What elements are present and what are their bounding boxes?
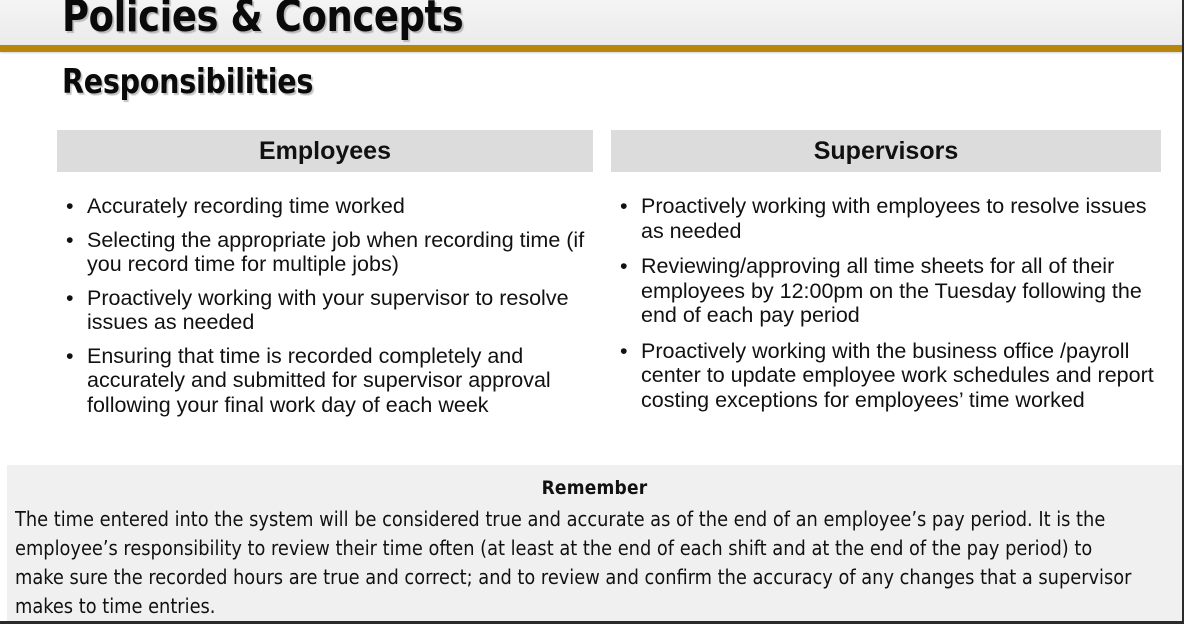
column-supervisors: Supervisors • Proactively working with e… [611,130,1161,423]
accent-divider [0,45,1184,52]
list-item-text: Accurately recording time worked [87,194,405,218]
bullet-dot-icon: • [66,228,74,253]
column-header-employees: Employees [57,130,593,172]
list-item-text: Proactively working with employees to re… [641,194,1146,243]
list-item: • Reviewing/approving all time sheets fo… [611,254,1161,328]
list-item: • Selecting the appropriate job when rec… [57,228,593,277]
page-title: Policies & Concepts [62,0,463,42]
section-heading: Responsibilities [62,62,313,102]
remember-title: Remember [7,465,1182,499]
list-item-text: Ensuring that time is recorded completel… [87,344,551,417]
bullet-list-employees: • Accurately recording time worked • Sel… [57,194,593,417]
list-item-text: Reviewing/approving all time sheets for … [641,254,1142,327]
list-item: • Proactively working with the business … [611,339,1161,413]
bullet-dot-icon: • [620,194,628,219]
column-employees: Employees • Accurately recording time wo… [57,130,593,426]
remember-body-text: The time entered into the system will be… [15,505,1133,621]
list-item: • Ensuring that time is recorded complet… [57,344,593,418]
bullet-dot-icon: • [66,286,74,311]
bullet-dot-icon: • [620,254,628,279]
list-item: • Proactively working with employees to … [611,194,1161,243]
bullet-list-supervisors: • Proactively working with employees to … [611,194,1161,412]
slide-canvas: Policies & Concepts Responsibilities Emp… [0,0,1184,624]
list-item: • Proactively working with your supervis… [57,286,593,335]
remember-callout: Remember The time entered into the syste… [7,465,1182,621]
column-header-supervisors: Supervisors [611,130,1161,172]
bullet-dot-icon: • [620,339,628,364]
bullet-dot-icon: • [66,344,74,369]
list-item-text: Selecting the appropriate job when recor… [87,228,584,277]
bullet-dot-icon: • [66,194,74,219]
list-item-text: Proactively working with your supervisor… [87,286,569,335]
list-item-text: Proactively working with the business of… [641,339,1154,412]
list-item: • Accurately recording time worked [57,194,593,219]
